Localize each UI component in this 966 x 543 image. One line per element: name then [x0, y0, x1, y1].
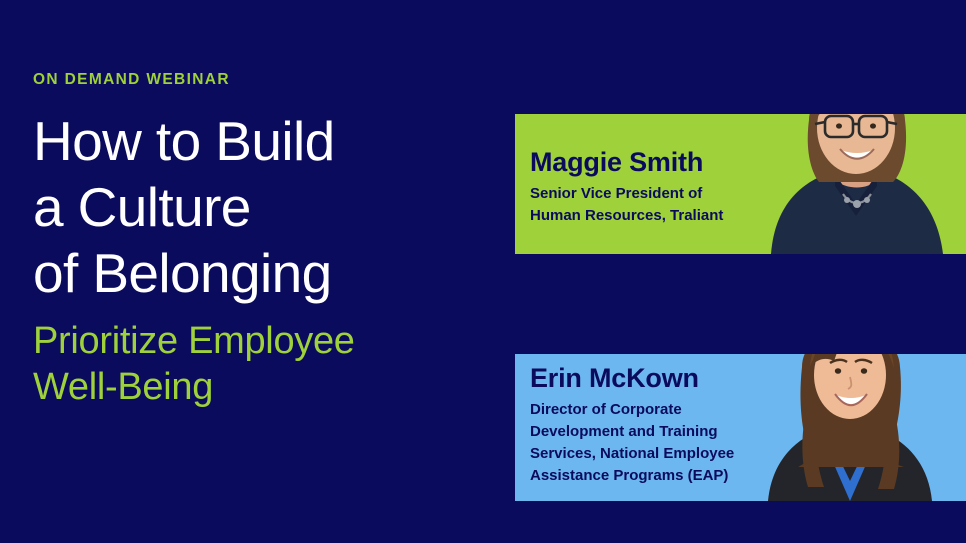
headline-block: ON DEMAND WEBINAR How to Build a Culture… [33, 72, 503, 410]
speaker-title-line-2: Development and Training [530, 421, 800, 443]
subtitle: Prioritize Employee Well-Being [33, 318, 503, 411]
speaker-card-erin-mckown: Erin McKown Director of Corporate Develo… [515, 354, 966, 501]
speaker-info: Erin McKown Director of Corporate Develo… [530, 364, 800, 487]
eyebrow-label: ON DEMAND WEBINAR [33, 72, 503, 88]
speaker-title-line-2: Human Resources, Traliant [530, 205, 800, 227]
speaker-title-line-1: Director of Corporate [530, 399, 800, 421]
speaker-title: Senior Vice President of Human Resources… [530, 183, 800, 227]
subtitle-line-2: Well-Being [33, 364, 503, 410]
speaker-title-line-3: Services, National Employee [530, 443, 800, 465]
headline-line-2: a Culture [33, 174, 503, 240]
speaker-name: Maggie Smith [530, 148, 800, 176]
speaker-title-line-4: Assistance Programs (EAP) [530, 465, 800, 487]
webinar-promo-slide: ON DEMAND WEBINAR How to Build a Culture… [0, 0, 966, 543]
speaker-title-line-1: Senior Vice President of [530, 183, 800, 205]
speaker-card-maggie-smith: Maggie Smith Senior Vice President of Hu… [515, 114, 966, 254]
page-title: How to Build a Culture of Belonging [33, 108, 503, 306]
speaker-name: Erin McKown [530, 364, 800, 392]
speaker-title: Director of Corporate Development and Tr… [530, 399, 800, 487]
headline-line-1: How to Build [33, 108, 503, 174]
speaker-info: Maggie Smith Senior Vice President of Hu… [530, 148, 800, 227]
subtitle-line-1: Prioritize Employee [33, 318, 503, 364]
headline-line-3: of Belonging [33, 240, 503, 306]
